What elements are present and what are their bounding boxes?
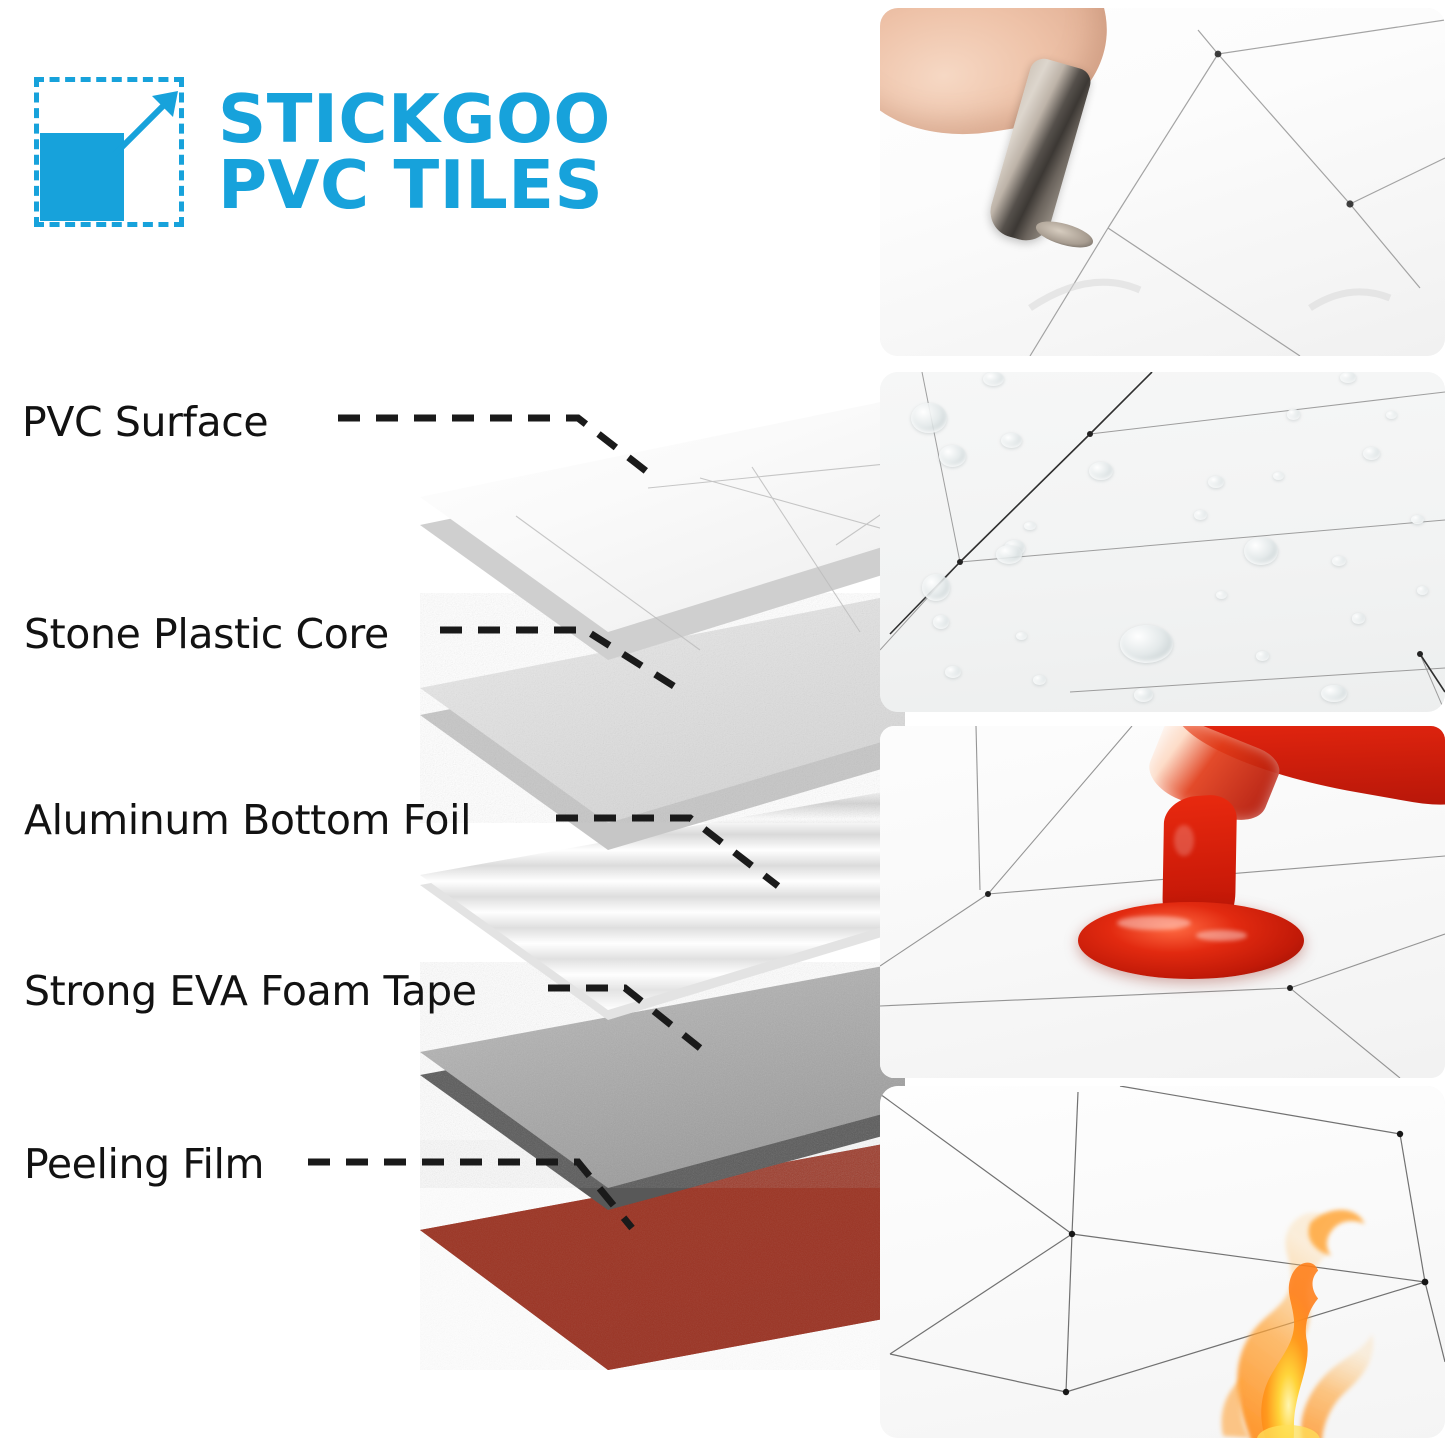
flame-icon <box>1196 1185 1388 1438</box>
water-droplet <box>1340 372 1356 383</box>
ketchup-highlight <box>1174 825 1194 857</box>
exploded-layer-diagram: PVC Surface Stone Plastic Core Aluminum … <box>0 330 1010 1330</box>
water-droplet <box>933 615 949 629</box>
layer-label-strong-eva-foam-tape: Strong EVA Foam Tape <box>24 967 477 1015</box>
tile-grout-lines <box>880 372 1445 712</box>
water-droplet <box>1001 433 1021 448</box>
layer-label-aluminum-bottom-foil: Aluminum Bottom Foil <box>24 796 471 844</box>
expand-arrow-icon <box>112 91 182 157</box>
water-droplet <box>939 445 966 467</box>
water-droplet <box>1411 515 1423 525</box>
water-droplet <box>1332 556 1346 566</box>
ketchup-highlight <box>1196 930 1247 941</box>
water-droplet <box>1363 447 1380 460</box>
brand-header: STICKGOO PVC TILES <box>34 52 734 252</box>
water-droplet <box>1208 476 1224 488</box>
water-droplet <box>1033 675 1047 685</box>
water-droplet <box>1417 586 1428 595</box>
photo-panel-water-test <box>880 372 1445 712</box>
water-droplet <box>1134 688 1153 702</box>
brand-logo-icon <box>34 77 184 227</box>
water-droplet <box>1321 685 1347 703</box>
water-droplet <box>1352 613 1366 623</box>
flame-wisp-right <box>1301 1333 1373 1438</box>
water-droplet <box>1287 409 1301 419</box>
photo-panel-scratch-test <box>880 8 1445 356</box>
infographic-page: STICKGOO PVC TILES <box>0 0 1445 1445</box>
ketchup-pool <box>1078 902 1304 979</box>
photo-panel-fire-test <box>880 1086 1445 1438</box>
water-droplet <box>1194 510 1208 520</box>
water-droplet <box>911 403 947 434</box>
feature-photo-column <box>880 0 1445 1445</box>
water-droplet <box>1256 651 1270 661</box>
layer-label-stone-plastic-core: Stone Plastic Core <box>24 610 389 658</box>
brand-wordmark: STICKGOO PVC TILES <box>218 86 611 219</box>
layer-label-peeling-film: Peeling Film <box>24 1140 264 1188</box>
brand-name-line-2: PVC TILES <box>218 152 611 218</box>
layer-label-pvc-surface: PVC Surface <box>22 398 268 446</box>
water-droplet <box>922 574 950 601</box>
water-droplet <box>945 666 961 678</box>
ketchup-highlight <box>1117 916 1190 930</box>
water-droplet <box>996 545 1022 563</box>
brand-name-line-1: STICKGOO <box>218 86 611 152</box>
photo-panel-stain-test <box>880 726 1445 1078</box>
